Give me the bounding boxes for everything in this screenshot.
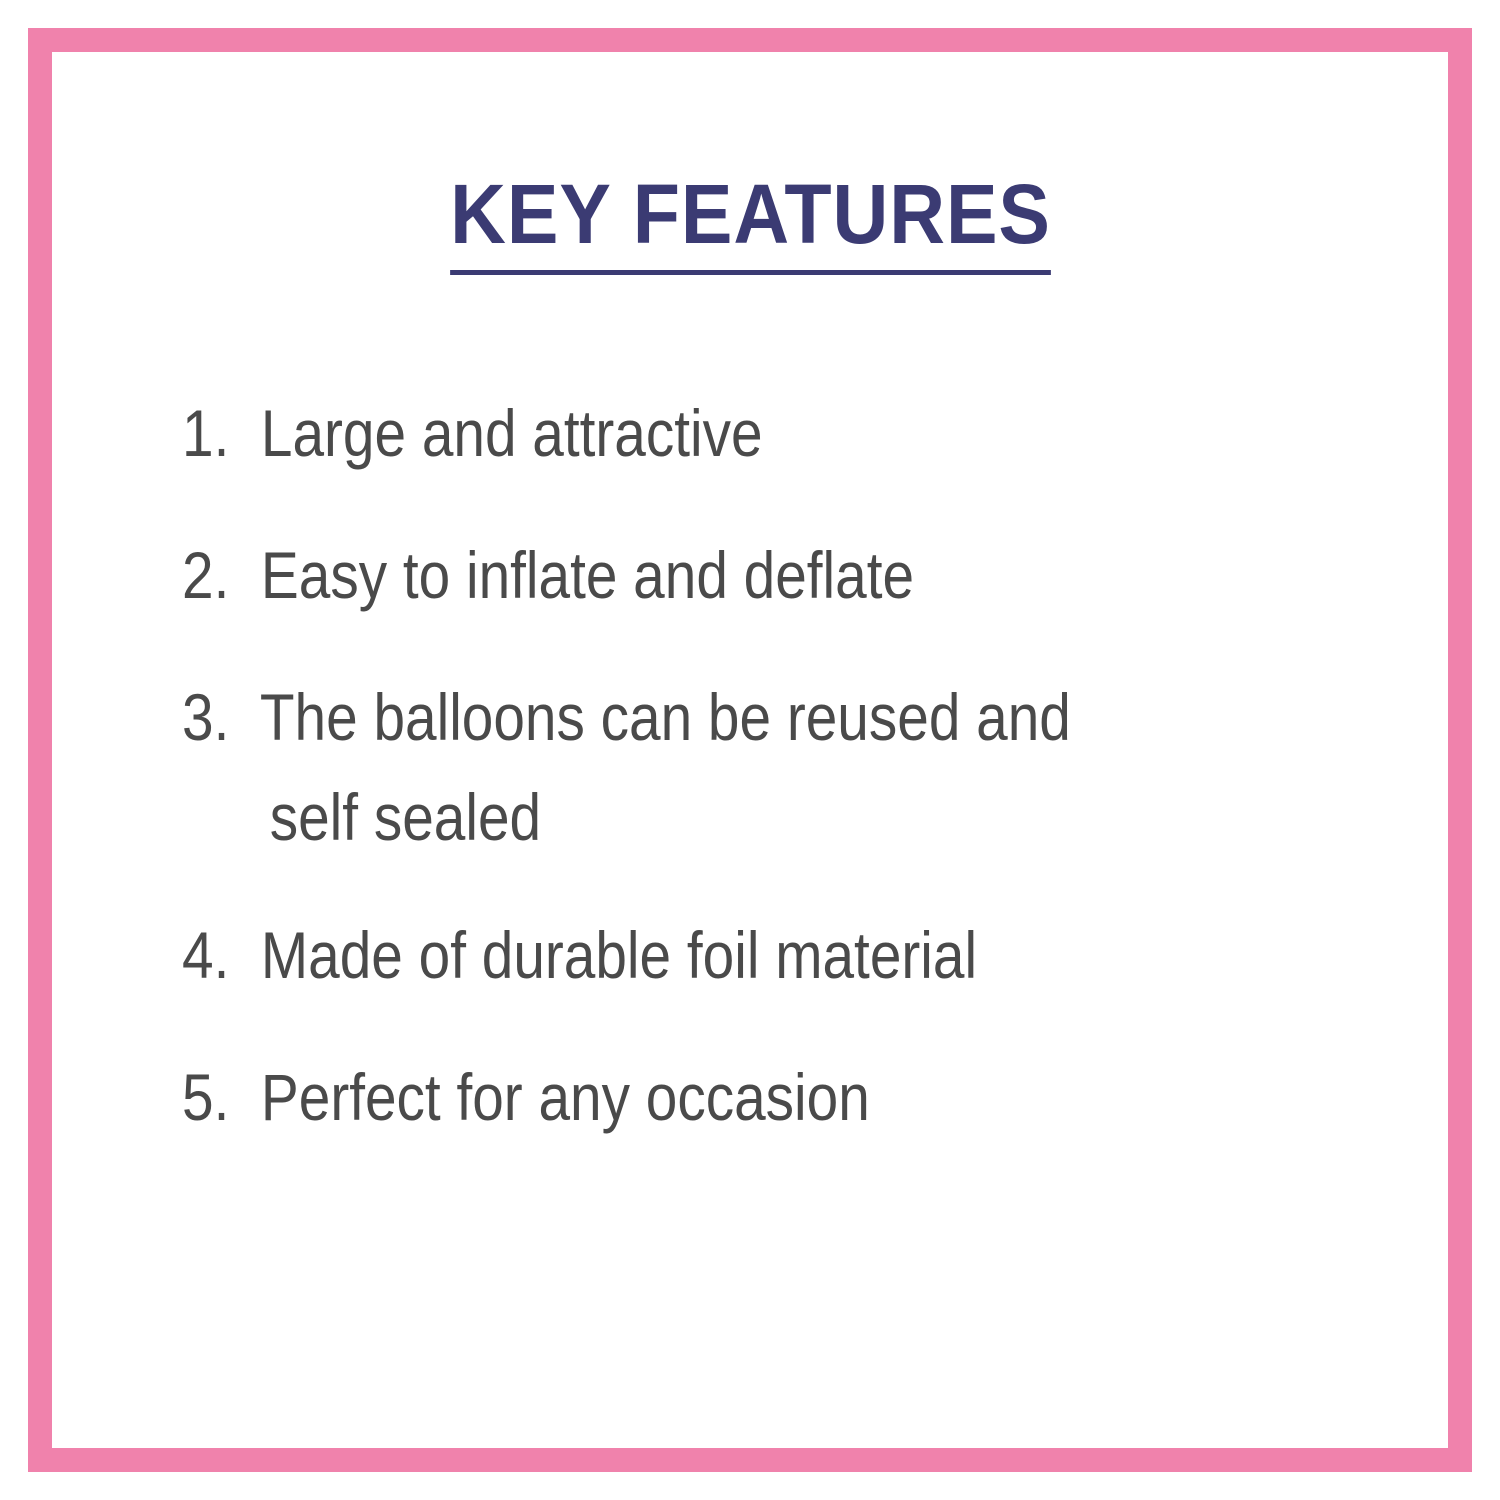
list-item: 5. Perfect for any occasion xyxy=(182,1064,1266,1130)
list-item-label: The balloons can be reused and xyxy=(260,680,1071,754)
card-content: KEY FEATURES 1. Large and attractive 2. … xyxy=(52,52,1448,1448)
list-item: 4. Made of durable foil material xyxy=(182,922,1266,988)
list-item-number: 4. xyxy=(182,918,245,992)
list-item: 3. The balloons can be reused and self s… xyxy=(182,684,1266,850)
list-item-label: Large and attractive xyxy=(261,396,763,470)
list-item-number: 2. xyxy=(182,538,245,612)
page-title: KEY FEATURES xyxy=(450,172,1051,275)
list-item: 1. Large and attractive xyxy=(182,400,1266,466)
list-item-label: Perfect for any occasion xyxy=(261,1060,870,1134)
key-features-card: KEY FEATURES 1. Large and attractive 2. … xyxy=(0,0,1500,1500)
list-item-number: 3. xyxy=(182,680,245,754)
list-item-continuation: self sealed xyxy=(182,784,1266,850)
list-item-label: Easy to inflate and deflate xyxy=(261,538,914,612)
page-title-container: KEY FEATURES xyxy=(52,172,1448,275)
list-item-label: Made of durable foil material xyxy=(261,918,977,992)
list-item: 2. Easy to inflate and deflate xyxy=(182,542,1266,608)
list-item-number: 5. xyxy=(182,1060,245,1134)
list-item-number: 1. xyxy=(182,396,245,470)
feature-list: 1. Large and attractive 2. Easy to infla… xyxy=(182,400,1442,1130)
